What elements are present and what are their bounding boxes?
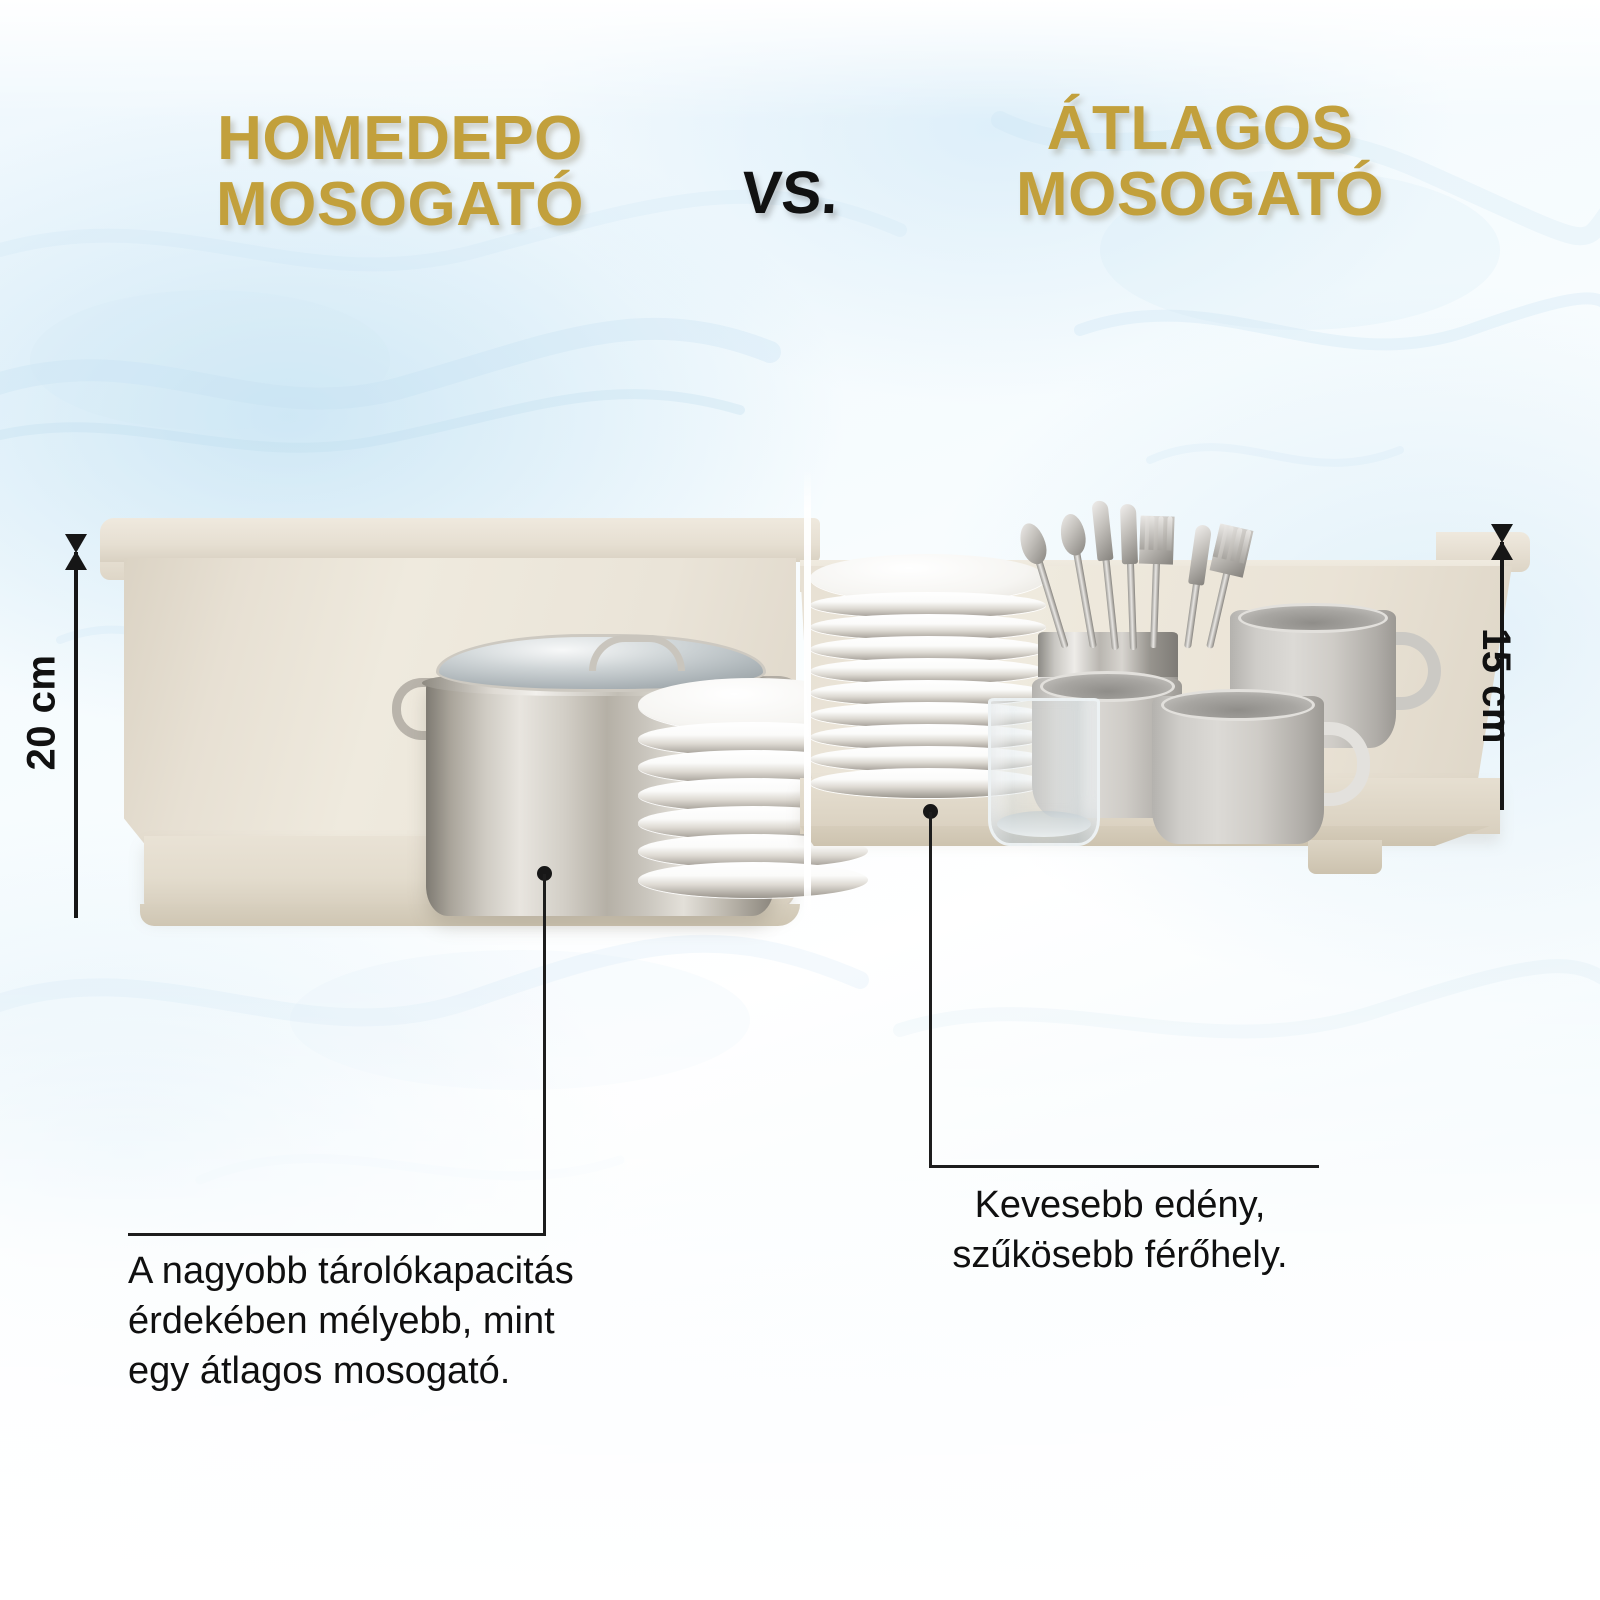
sink-right-front-edge bbox=[800, 826, 1490, 846]
right-depth-value: 15 cm bbox=[1473, 628, 1518, 744]
comparison-infographic: HOMEDEPO MOSOGATÓ VS. ÁTLAGOS MOSOGATÓ bbox=[0, 0, 1600, 1600]
pot-lid-handle bbox=[589, 635, 685, 671]
dimension-line bbox=[74, 552, 78, 918]
knife-blade bbox=[1091, 500, 1113, 561]
leader-vertical-line bbox=[929, 812, 932, 1168]
fork-tine bbox=[1139, 515, 1145, 549]
spoon-bowl bbox=[1058, 512, 1089, 558]
leader-vertical-line bbox=[543, 874, 546, 1236]
fork-tine bbox=[1157, 516, 1163, 550]
right-drawback-caption: Kevesebb edény, szűkösebb férőhely. bbox=[900, 1180, 1340, 1280]
panel-divider bbox=[804, 470, 811, 960]
fork-icon bbox=[1136, 515, 1175, 648]
fork-tine bbox=[1166, 516, 1172, 550]
knife-shaft bbox=[1126, 558, 1136, 650]
average-shallow-sink-image bbox=[800, 510, 1530, 870]
right-product-title: ÁTLAGOS MOSOGATÓ bbox=[880, 96, 1520, 227]
drinking-glass bbox=[988, 698, 1100, 846]
left-depth-value: 20 cm bbox=[19, 655, 64, 771]
fork-tines bbox=[1139, 515, 1175, 564]
arrow-head-down-icon bbox=[1491, 524, 1513, 543]
fork-shaft bbox=[1206, 565, 1232, 648]
sink-left-rim bbox=[100, 518, 820, 562]
left-product-title: HOMEDEPO MOSOGATÓ bbox=[90, 106, 710, 237]
knife-blade bbox=[1120, 504, 1138, 565]
left-benefit-caption: A nagyobb tárolókapacitás érdekében mély… bbox=[128, 1246, 688, 1396]
leader-horizontal-line bbox=[128, 1233, 546, 1236]
versus-label: VS. bbox=[698, 158, 883, 227]
homedepo-deep-sink-image bbox=[100, 518, 820, 918]
glass-base bbox=[997, 811, 1090, 837]
arrow-head-down-icon bbox=[65, 534, 87, 553]
fork-tine bbox=[1148, 516, 1154, 550]
grey-mug-front bbox=[1152, 696, 1324, 844]
leader-horizontal-line bbox=[929, 1165, 1319, 1168]
sink-right-bottom-tab bbox=[1308, 840, 1382, 874]
product-comparison-photo bbox=[0, 470, 1600, 960]
fork-shaft bbox=[1150, 556, 1160, 648]
mug-interior bbox=[1161, 689, 1316, 722]
